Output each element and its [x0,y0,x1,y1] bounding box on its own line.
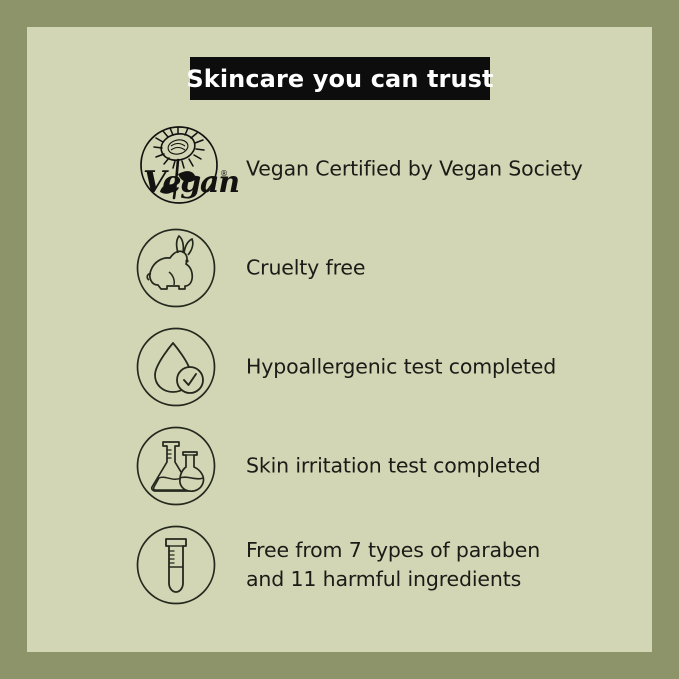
claims-list: Vegan ® Vegan Certified by Vegan Society [27,119,652,614]
lab-flasks-icon [135,425,217,507]
title-banner: Skincare you can trust [190,57,490,100]
content-panel: Skincare you can trust [27,27,652,652]
registered-trademark-icon: ® [220,170,228,178]
list-item: Skin irritation test completed [27,416,652,515]
list-item: Hypoallergenic test completed [27,317,652,416]
list-item-label: Skin irritation test completed [246,451,541,480]
page-title: Skincare you can trust [186,67,493,91]
list-item: Free from 7 types of paraben and 11 harm… [27,515,652,614]
list-item-label: Hypoallergenic test completed [246,352,556,381]
list-item-label: Vegan Certified by Vegan Society [246,154,583,183]
list-item: Cruelty free [27,218,652,317]
test-tube-icon [135,524,217,606]
droplet-check-icon [135,326,217,408]
rabbit-icon [135,227,217,309]
list-item-label: Free from 7 types of paraben and 11 harm… [246,535,540,593]
list-item-label: Cruelty free [246,253,365,282]
poster-root: Skincare you can trust [0,0,679,679]
list-item: Vegan ® Vegan Certified by Vegan Society [27,119,652,218]
vegan-society-logo-icon: Vegan ® [135,128,217,210]
